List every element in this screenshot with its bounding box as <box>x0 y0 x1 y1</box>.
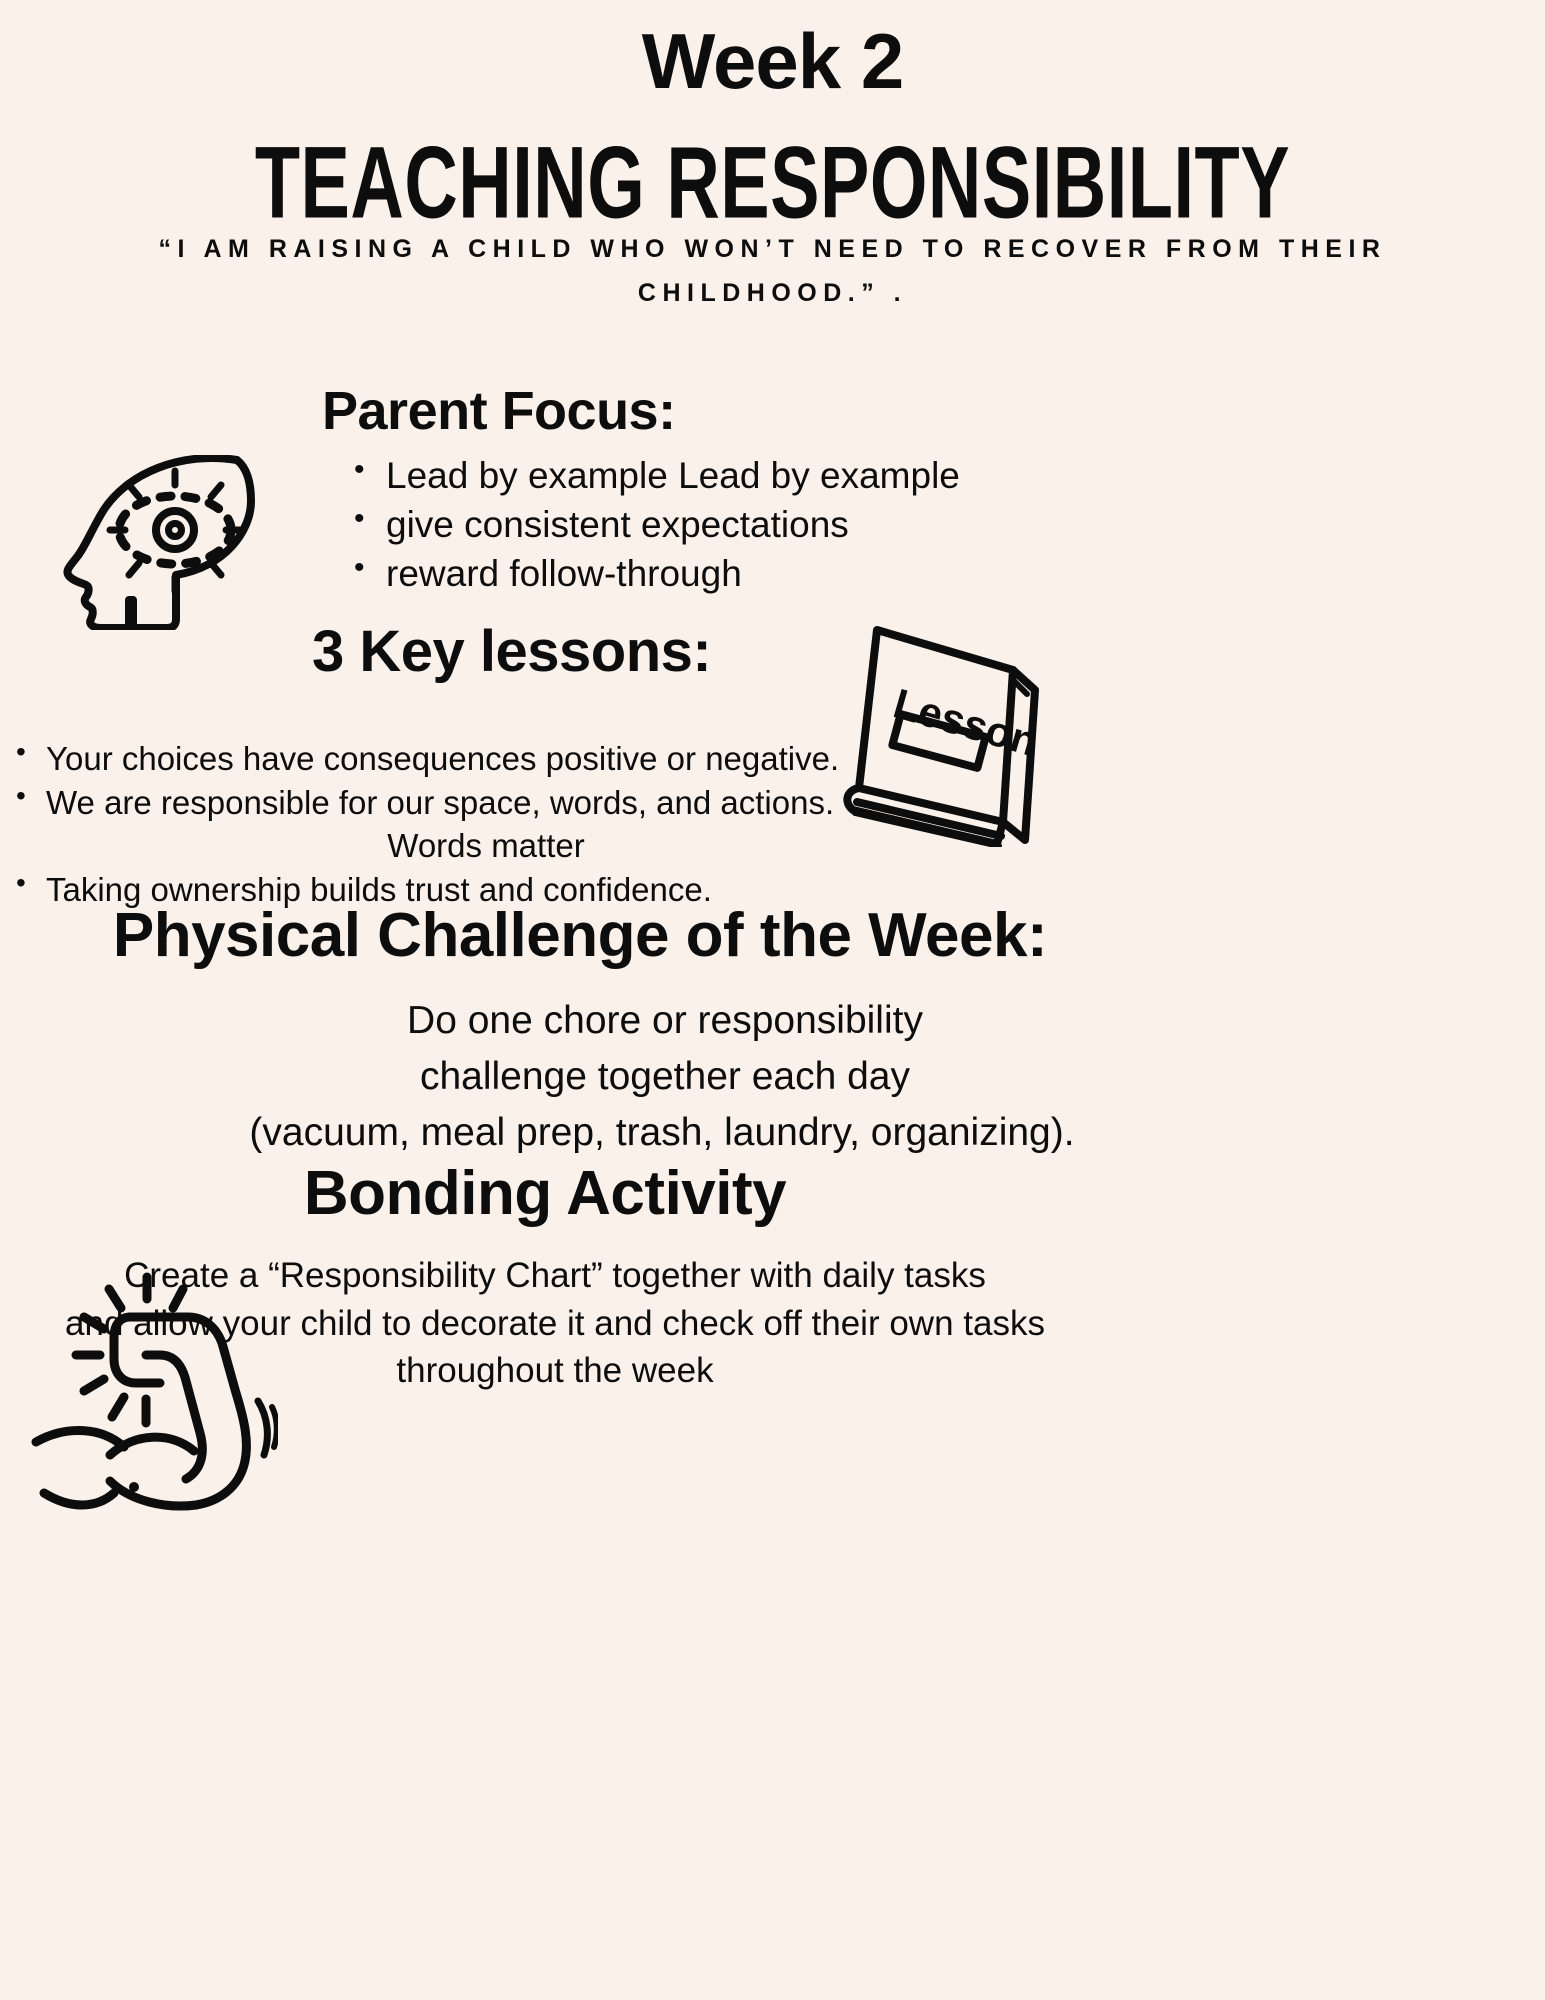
physical-challenge-body: Do one chore or responsibility challenge… <box>200 993 1130 1161</box>
physical-challenge-line: Do one chore or responsibility <box>200 993 1130 1049</box>
list-item: We are responsible for our space, words,… <box>46 781 1146 825</box>
physical-challenge-line: challenge together each day <box>200 1049 1130 1105</box>
list-item: reward follow-through <box>386 550 960 599</box>
bonding-activity-line: Create a “Responsibility Chart” together… <box>0 1252 1110 1300</box>
physical-challenge-title: Physical Challenge of the Week: <box>0 900 1160 971</box>
key-lessons-title: 3 Key lessons: <box>312 618 711 685</box>
bonding-activity-line: throughout the week <box>0 1347 1110 1395</box>
head-with-eye-icon <box>55 455 310 630</box>
parent-focus-title: Parent Focus: <box>322 380 676 442</box>
key-lessons-list: Your choices have consequences positive … <box>8 737 1146 911</box>
bonding-activity-body: Create a “Responsibility Chart” together… <box>0 1252 1110 1395</box>
list-item: Lead by example Lead by example <box>386 452 960 501</box>
quote-text: “I am raising a child who won’t need to … <box>110 228 1435 316</box>
physical-challenge-line: (vacuum, meal prep, trash, laundry, orga… <box>194 1105 1130 1161</box>
list-item: Your choices have consequences positive … <box>46 737 1146 781</box>
bonding-activity-line: and allow your child to decorate it and … <box>0 1300 1110 1348</box>
poster-page: Week 2 TEACHING RESPONSIBILITY “I am rai… <box>0 0 1545 2000</box>
week-label: Week 2 <box>0 22 1545 100</box>
bonding-activity-title: Bonding Activity <box>0 1158 1090 1229</box>
words-matter-note: Words matter <box>46 824 926 868</box>
parent-focus-list: Lead by example Lead by example give con… <box>348 452 960 598</box>
list-item: give consistent expectations <box>386 501 960 550</box>
page-title: TEACHING RESPONSIBILITY <box>0 132 1545 234</box>
